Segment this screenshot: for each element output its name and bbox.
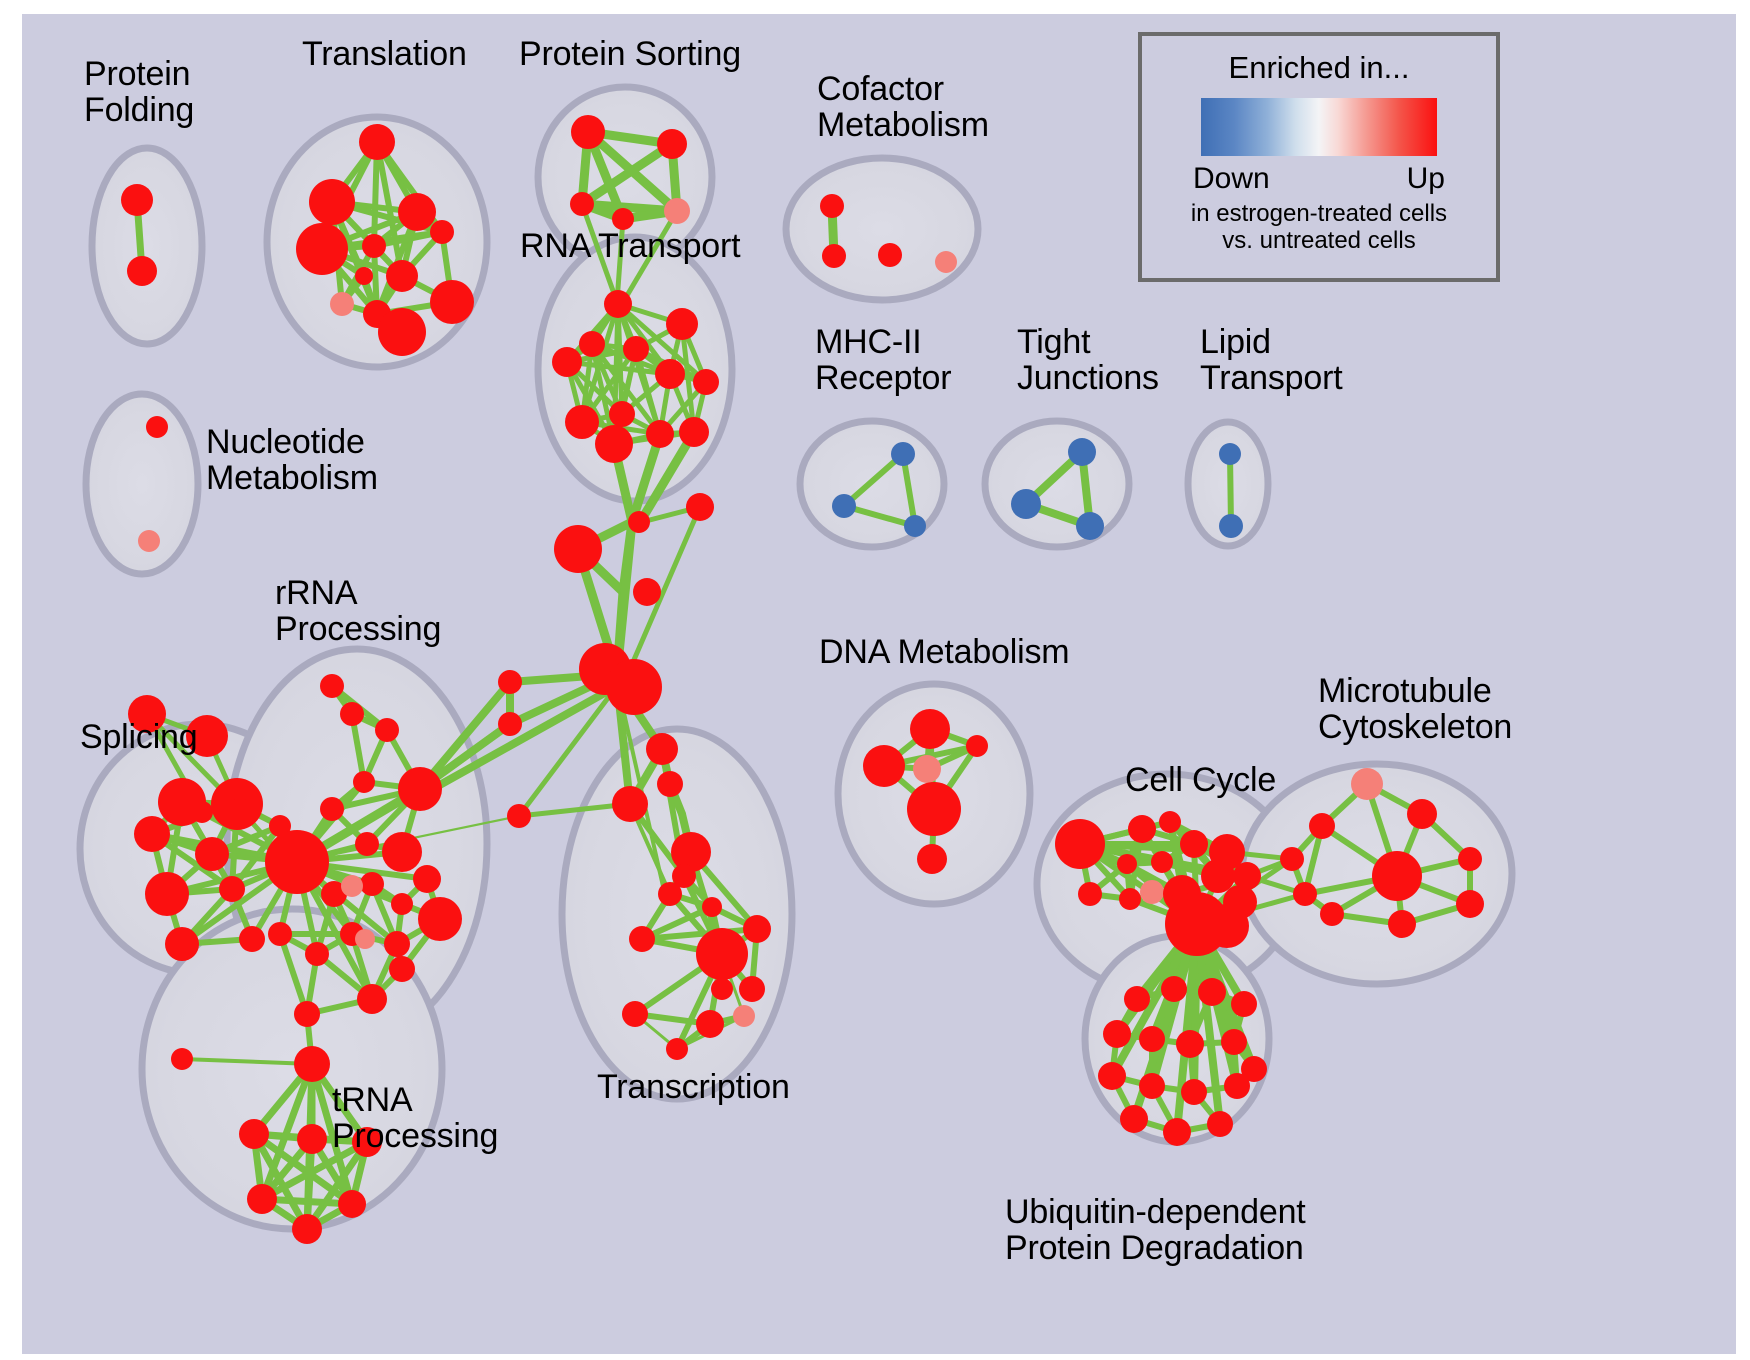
- node-up: [1124, 986, 1150, 1012]
- node-up: [296, 223, 348, 275]
- node-down: [891, 442, 915, 466]
- node-up: [134, 816, 170, 852]
- node-up: [666, 308, 698, 340]
- node-up: [1293, 882, 1317, 906]
- node-up: [268, 922, 292, 946]
- node-up: [679, 417, 709, 447]
- node-up: [265, 830, 329, 894]
- node-up: [696, 928, 748, 980]
- node-up: [623, 336, 649, 362]
- node-up: [398, 193, 436, 231]
- node-up: [711, 978, 733, 1000]
- node-up: [1181, 1079, 1207, 1105]
- cluster-label-trna-processing: tRNA Processing: [332, 1082, 498, 1154]
- legend-endpoints: Down Up: [1169, 158, 1469, 198]
- node-up: [1139, 1026, 1165, 1052]
- cluster-label-tight-junctions: Tight Junctions: [1017, 324, 1159, 396]
- node-up: [1117, 854, 1137, 874]
- node-up: [353, 771, 375, 793]
- node-up: [391, 893, 413, 915]
- network-panel: Protein Folding Translation Protein Sort…: [22, 14, 1736, 1354]
- node-up: [612, 786, 648, 822]
- node-up: [1103, 1020, 1131, 1048]
- node-up: [320, 797, 344, 821]
- node-up: [743, 915, 771, 943]
- node-up: [1231, 991, 1257, 1017]
- node-up: [1151, 851, 1173, 873]
- cluster-label-nucleotide-metabolism: Nucleotide Metabolism: [206, 424, 378, 496]
- legend-color-scale: [1201, 98, 1437, 156]
- node-up: [1176, 1030, 1204, 1058]
- node-up: [657, 129, 687, 159]
- node-up-mid: [733, 1005, 755, 1027]
- node-up: [1098, 1062, 1126, 1090]
- node-down: [832, 494, 856, 518]
- legend-down-label: Down: [1193, 162, 1270, 196]
- node-up: [498, 712, 522, 736]
- node-up: [171, 1048, 193, 1070]
- figure-root: Protein Folding Translation Protein Sort…: [0, 0, 1750, 1360]
- legend-title: Enriched in...: [1142, 50, 1496, 86]
- node-up: [247, 1184, 277, 1214]
- legend-subtitle-line1: in estrogen-treated cells: [1142, 200, 1496, 227]
- node-up: [554, 525, 602, 573]
- node-up: [1163, 1118, 1191, 1146]
- node-up: [297, 1124, 327, 1154]
- cluster-label-rna-transport: RNA Transport: [520, 228, 740, 264]
- node-up: [418, 897, 462, 941]
- node-up-mid: [1140, 880, 1164, 904]
- node-up: [1120, 1105, 1148, 1133]
- node-up: [430, 220, 454, 244]
- node-up-mid: [330, 292, 354, 316]
- cluster-label-protein-sorting: Protein Sorting: [519, 36, 741, 72]
- node-up: [907, 782, 961, 836]
- node-up: [239, 1119, 269, 1149]
- node-up: [359, 124, 395, 160]
- node-up-mid: [355, 929, 375, 949]
- node-up: [686, 493, 714, 521]
- node-up: [1180, 830, 1208, 858]
- node-up: [604, 290, 632, 318]
- node-up: [362, 234, 386, 258]
- node-up: [609, 401, 635, 427]
- node-up: [1388, 910, 1416, 938]
- node-up: [1458, 847, 1482, 871]
- node-up: [378, 308, 426, 356]
- node-up: [822, 244, 846, 268]
- node-up: [309, 179, 355, 225]
- node-down: [1219, 514, 1243, 538]
- node-up: [917, 844, 947, 874]
- node-up: [1205, 904, 1249, 948]
- node-up: [145, 872, 189, 916]
- node-up: [595, 425, 633, 463]
- cluster-label-protein-folding: Protein Folding: [84, 56, 194, 128]
- legend: Enriched in... Down Up in estrogen-treat…: [1138, 32, 1500, 282]
- node-up: [666, 1038, 688, 1060]
- node-up: [1456, 890, 1484, 918]
- node-up: [357, 984, 387, 1014]
- node-up: [1309, 813, 1335, 839]
- cluster-label-dna-metabolism: DNA Metabolism: [819, 634, 1069, 670]
- cluster-blob-cofactor: [786, 158, 978, 300]
- cluster-label-mhc-ii-receptor: MHC-II Receptor: [815, 324, 951, 396]
- node-up: [1280, 847, 1304, 871]
- node-up: [863, 745, 905, 787]
- node-up-mid: [1351, 768, 1383, 800]
- node-up: [657, 771, 683, 797]
- node-up: [398, 767, 442, 811]
- node-up: [375, 718, 399, 742]
- node-up: [696, 1010, 724, 1038]
- node-up: [1221, 1029, 1247, 1055]
- node-down: [1068, 438, 1096, 466]
- node-up: [658, 882, 682, 906]
- node-up: [702, 897, 722, 917]
- node-up: [646, 733, 678, 765]
- node-up: [655, 359, 685, 389]
- node-up: [966, 735, 988, 757]
- node-up: [622, 1001, 648, 1027]
- node-up: [389, 956, 415, 982]
- node-up-mid: [935, 251, 957, 273]
- node-up: [320, 674, 344, 698]
- node-up: [360, 872, 384, 896]
- node-up: [1139, 1073, 1165, 1099]
- node-up: [292, 1214, 322, 1244]
- node-up: [1161, 976, 1187, 1002]
- node-up: [739, 976, 765, 1002]
- node-up: [430, 280, 474, 324]
- node-up-mid: [913, 755, 941, 783]
- node-up: [158, 778, 206, 826]
- node-up: [1078, 882, 1102, 906]
- node-up: [1207, 1111, 1233, 1137]
- node-down: [1076, 512, 1104, 540]
- cluster-blob-protein-folding: [92, 148, 202, 344]
- cluster-label-splicing: Splicing: [80, 719, 197, 755]
- node-up: [355, 267, 373, 285]
- node-up: [579, 331, 605, 357]
- node-up: [628, 511, 650, 533]
- node-up: [671, 832, 711, 872]
- legend-subtitle-line2: vs. untreated cells: [1142, 227, 1496, 254]
- node-up: [1224, 1073, 1250, 1099]
- node-up: [338, 1190, 366, 1218]
- node-up: [1128, 815, 1156, 843]
- node-up: [552, 347, 582, 377]
- node-up: [413, 865, 441, 893]
- node-up: [229, 798, 251, 820]
- cluster-label-cofactor-metabolism: Cofactor Metabolism: [817, 71, 989, 143]
- node-up: [1201, 859, 1235, 893]
- cluster-label-ubiquitin-degradation: Ubiquitin-dependent Protein Degradation: [1005, 1194, 1306, 1266]
- node-up: [565, 405, 599, 439]
- node-up: [498, 670, 522, 694]
- node-up: [219, 876, 245, 902]
- node-up: [294, 1001, 320, 1027]
- node-up: [1372, 851, 1422, 901]
- cluster-blob-tight-junctions: [985, 421, 1129, 547]
- cluster-label-translation: Translation: [302, 36, 467, 72]
- node-up: [1055, 819, 1105, 869]
- node-up: [294, 1046, 330, 1082]
- node-up: [606, 659, 662, 715]
- node-up: [878, 243, 902, 267]
- node-up: [693, 369, 719, 395]
- node-down: [1011, 489, 1041, 519]
- node-up: [165, 927, 199, 961]
- node-up: [195, 837, 229, 871]
- node-up: [386, 260, 418, 292]
- legend-up-label: Up: [1407, 162, 1445, 196]
- node-up: [384, 931, 410, 957]
- node-up: [507, 804, 531, 828]
- cluster-label-lipid-transport: Lipid Transport: [1200, 324, 1342, 396]
- node-up: [1320, 902, 1344, 926]
- cluster-label-cell-cycle: Cell Cycle: [1125, 762, 1276, 798]
- node-up: [571, 115, 605, 149]
- node-up: [382, 832, 422, 872]
- cluster-label-rrna-processing: rRNA Processing: [275, 575, 441, 647]
- node-up: [633, 578, 661, 606]
- node-up-mid: [341, 875, 363, 897]
- cluster-label-transcription: Transcription: [597, 1069, 790, 1105]
- node-up-mid: [138, 530, 160, 552]
- node-up: [121, 184, 153, 216]
- node-down: [904, 515, 926, 537]
- node-up: [239, 926, 265, 952]
- node-up: [1198, 978, 1226, 1006]
- cluster-label-microtubule-cytoskeleton: Microtubule Cytoskeleton: [1318, 673, 1512, 745]
- node-up: [146, 416, 168, 438]
- node-up: [646, 420, 674, 448]
- node-up: [629, 926, 655, 952]
- node-up: [1119, 888, 1141, 910]
- node-up: [910, 709, 950, 749]
- node-up: [820, 194, 844, 218]
- node-up-mid: [664, 198, 690, 224]
- node-down: [1219, 443, 1241, 465]
- node-up: [570, 192, 594, 216]
- node-up: [305, 942, 329, 966]
- node-up: [1159, 811, 1181, 833]
- node-up: [127, 256, 157, 286]
- node-up: [1407, 799, 1437, 829]
- node-up: [340, 702, 364, 726]
- node-up: [355, 832, 379, 856]
